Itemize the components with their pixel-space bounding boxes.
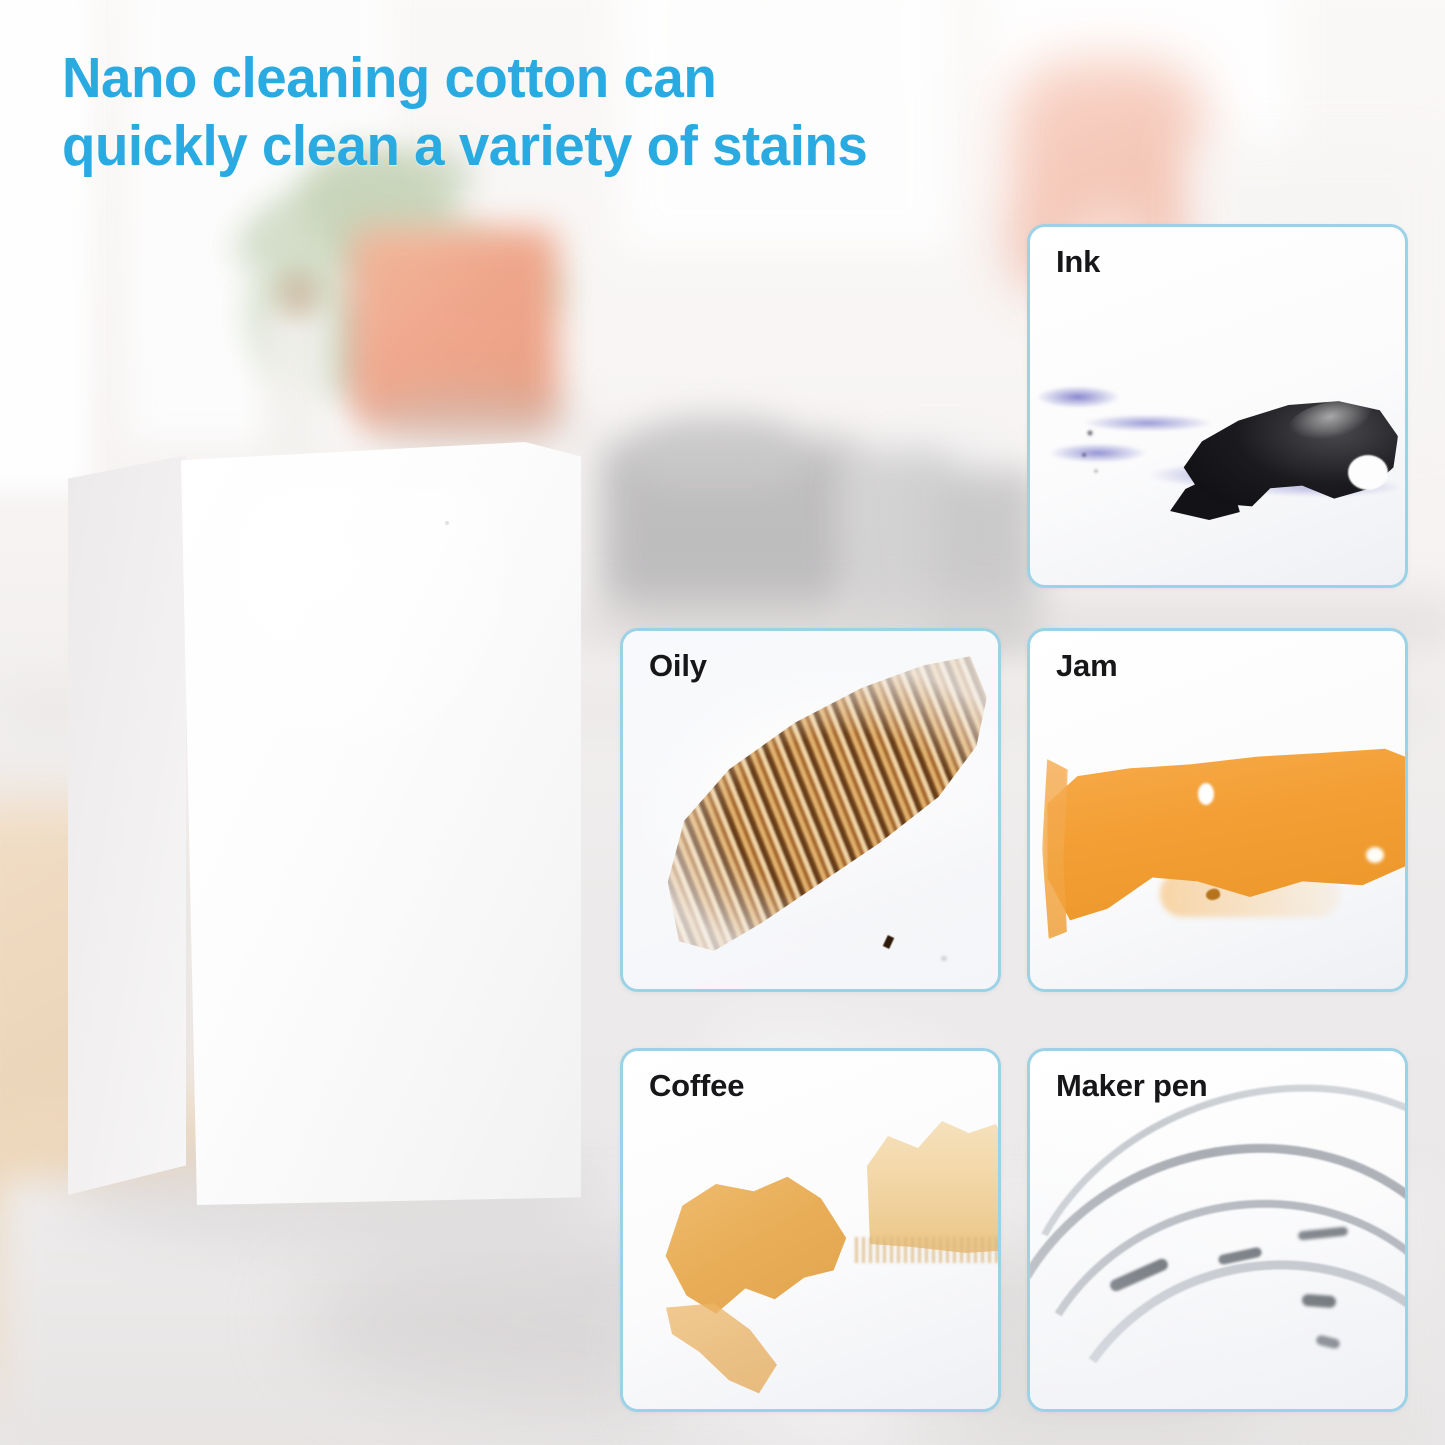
stain-card-label: Ink xyxy=(1056,244,1100,280)
stain-card-ink[interactable]: Ink xyxy=(1027,224,1408,588)
stain-card-label: Oily xyxy=(649,648,707,684)
jam-stain-art xyxy=(1030,631,1405,989)
stain-card-maker-pen[interactable]: Maker pen xyxy=(1027,1048,1408,1412)
maker-pen-stain-art xyxy=(1030,1051,1405,1409)
ink-hole xyxy=(1348,455,1388,490)
coffee-stain-art xyxy=(623,1051,998,1409)
marker-fade-overlay xyxy=(1030,1051,1405,1409)
oily-fade-mask xyxy=(623,631,998,989)
coffee-fringe xyxy=(855,1237,1001,1263)
stain-card-label: Maker pen xyxy=(1056,1068,1208,1104)
jam-gloss-highlight xyxy=(1198,783,1214,805)
stain-card-jam[interactable]: Jam xyxy=(1027,628,1408,992)
stain-card-coffee[interactable]: Coffee xyxy=(620,1048,1001,1412)
ink-stain-art xyxy=(1030,227,1405,585)
sponge-highlight xyxy=(205,490,535,790)
stain-card-label: Coffee xyxy=(649,1068,744,1104)
stain-card-oily[interactable]: Oily xyxy=(620,628,1001,992)
bottle-cap-icon xyxy=(278,272,318,316)
page-title: Nano cleaning cotton can quickly clean a… xyxy=(62,44,1080,181)
oily-fleck xyxy=(941,956,947,961)
product-sponge xyxy=(55,430,625,1230)
oily-stain-art xyxy=(623,631,998,989)
coffee-drip-icon xyxy=(663,1301,813,1411)
kitchen-pot-lid-icon xyxy=(638,418,798,488)
stain-card-label: Jam xyxy=(1056,648,1117,684)
sponge-side-face xyxy=(68,455,186,1195)
sponge-speck xyxy=(445,521,449,525)
jam-gloss-highlight xyxy=(1366,847,1384,863)
